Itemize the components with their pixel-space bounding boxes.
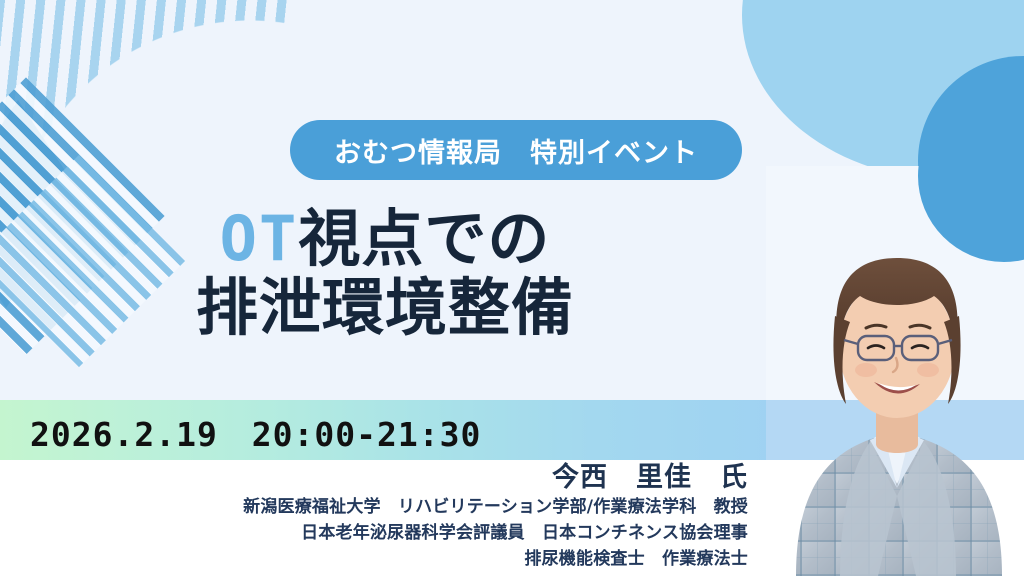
page-title: OT視点での 排泄環境整備 xyxy=(0,204,770,343)
title-line-2: 排泄環境整備 xyxy=(0,273,770,342)
speaker-affiliation-line-3: 排尿機能検査士 作業療法士 xyxy=(128,544,748,569)
speaker-affiliation-line-2: 日本老年泌尿器科学会評議員 日本コンチネンス協会理事 xyxy=(128,518,748,543)
event-poster: おむつ情報局 特別イベント OT視点での 排泄環境整備 2026.2.19 20… xyxy=(0,0,1024,576)
speaker-portrait xyxy=(766,166,1024,576)
title-line-1-rest: 視点での xyxy=(298,202,550,275)
title-accent-ot: OT xyxy=(220,202,299,275)
event-badge-label: おむつ情報局 特別イベント xyxy=(334,131,698,170)
speaker-affiliation-line-1: 新潟医療福祉大学 リハビリテーション学部/作業療法学科 教授 xyxy=(128,492,748,517)
speaker-name: 今西 里佳 氏 xyxy=(552,455,748,494)
speaker-portrait-image xyxy=(766,166,1024,576)
schedule-text: 2026.2.19 20:00-21:30 xyxy=(30,408,481,456)
title-line-1: OT視点での xyxy=(0,204,770,273)
event-badge: おむつ情報局 特別イベント xyxy=(290,120,742,180)
